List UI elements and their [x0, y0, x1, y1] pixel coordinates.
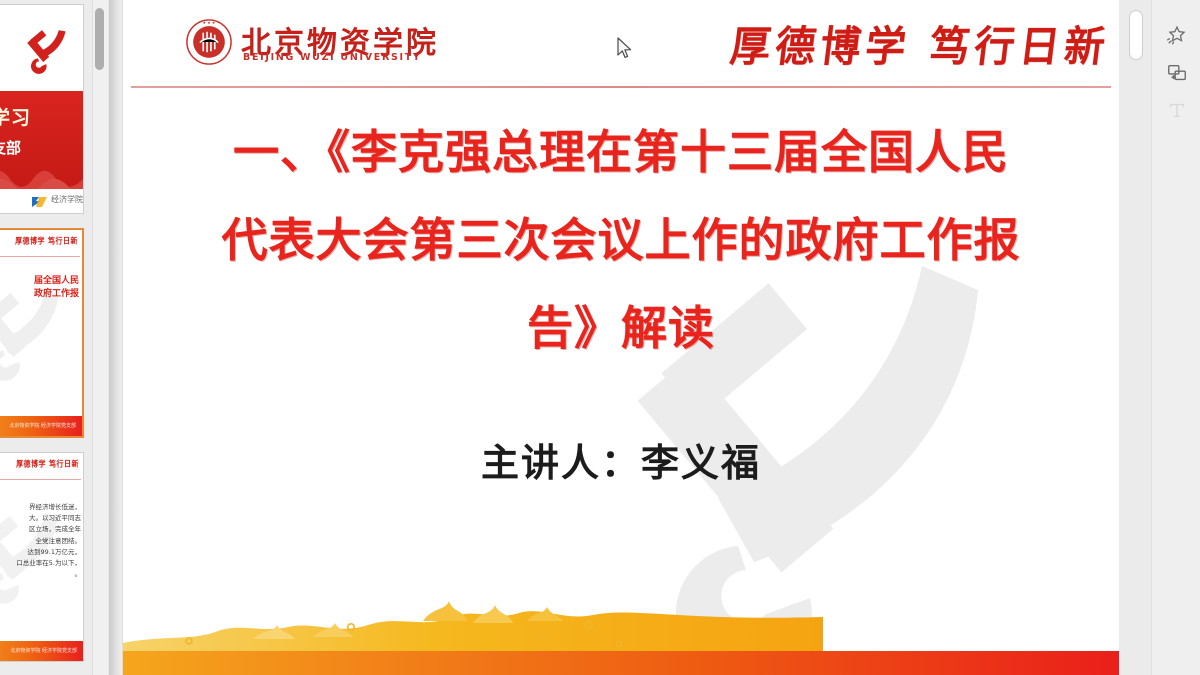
slide-header-divider [131, 86, 1111, 88]
thumbnail-3-footer-text: 北京物资学院 经济学院党支部 [10, 647, 77, 654]
thumbnail-2-motto: 厚德博学 笃行日新 [15, 235, 78, 247]
thumbnail-3-line-5: 达到99.1万亿元， [0, 547, 83, 558]
thumbnail-3-footer-bar: 北京物资学院 经济学院党支部 [0, 641, 83, 661]
thumbnail-1-wave-ornament [0, 149, 83, 189]
slide-canvas-scrollbar-track[interactable] [1119, 0, 1151, 675]
thumbnail-2-line-1: 届全国人民 [0, 275, 82, 288]
thumbnail-1-footer-name: 经济学院 [51, 194, 83, 205]
school-logo-icon [31, 195, 48, 208]
slide-thumbnail-3[interactable]: 厚德博学 笃行日新 界经济增长低迷， 大。以习近平同志 区立场，完成全年 全 [0, 452, 84, 662]
thumbnail-1-line1: 学习 [0, 103, 31, 130]
slide-title-line-3: 告》解读 [169, 284, 1073, 372]
thumbnail-2-body: 届全国人民 政府工作报 [0, 257, 82, 416]
slide-thumbnail-1[interactable]: 学习 支部 经济学院 [0, 4, 84, 214]
duplicate-slide-button[interactable] [1160, 56, 1194, 90]
thumbnail-3-line-3: 区立场，完成全年 [0, 524, 83, 535]
golden-wave-ornament [123, 591, 823, 653]
university-name-en: BEIJING WUZI UNIVERSITY [243, 52, 422, 63]
slide-title[interactable]: 一、《李克强总理在第十三届全国人民 代表大会第三次会议上作的政府工作报 告》解读 [169, 108, 1073, 372]
university-seal-icon: ★ ★ ★ [185, 18, 233, 66]
text-tool-icon [1166, 99, 1188, 121]
thumbnail-panel-scrollbar-thumb[interactable] [95, 8, 104, 70]
slide-bottom-bar [123, 651, 1119, 675]
slide-canvas-stage: ★ ★ ★ 北京物资学院 BEIJING WUZI UNIVERSITY 厚德博… [109, 0, 1119, 675]
thumbnail-2-line-2: 政府工作报 [0, 288, 82, 301]
thumbnail-3-body: 界经济增长低迷， 大。以习近平同志 区立场，完成全年 全党注意团结。 达到99.… [0, 480, 83, 641]
thumbnail-2-header: 厚德博学 笃行日新 [0, 230, 82, 256]
thumbnail-2-footer-bar: 北京物资学院 经济学院党支部 [0, 416, 82, 436]
slide-thumbnail-2[interactable]: 厚德博学 笃行日新 届全国人民 政府工作报 北京物资学 [0, 228, 84, 438]
thumbnail-1-emblem-area [0, 5, 83, 91]
thumbnail-1-footer: 经济学院 [0, 189, 83, 213]
slide-canvas-scrollbar-thumb[interactable] [1129, 10, 1143, 60]
thumbnail-2-footer-text: 北京物资学院 经济学院党支部 [9, 422, 76, 429]
slide-thumbnail-panel[interactable]: 学习 支部 经济学院 厚德博学 笃行日新 [0, 0, 92, 675]
thumbnail-3-line-6: 口总业率在5.为以下， [0, 558, 83, 569]
thumbnail-panel-scrollbar-track[interactable] [92, 0, 108, 675]
thumbnail-3-line-7: 。 [0, 569, 83, 580]
stage-left-shadow [109, 0, 123, 675]
slide-title-line-2: 代表大会第三次会议上作的政府工作报 [169, 196, 1073, 284]
presentation-editor-window: 学习 支部 经济学院 厚德博学 笃行日新 [0, 0, 1200, 675]
svg-text:★ ★ ★: ★ ★ ★ [203, 20, 216, 25]
university-motto: 厚德博学 笃行日新 [727, 13, 1113, 74]
slide-title-line-1: 一、《李克强总理在第十三届全国人民 [169, 108, 1073, 196]
thumbnail-3-line-1: 界经济增长低迷， [0, 502, 83, 513]
slide-presenter[interactable]: 主讲人：李义福 [169, 432, 1073, 487]
slide-header: ★ ★ ★ 北京物资学院 BEIJING WUZI UNIVERSITY 厚德博… [123, 0, 1119, 84]
current-slide[interactable]: ★ ★ ★ 北京物资学院 BEIJING WUZI UNIVERSITY 厚德博… [123, 0, 1119, 675]
thumbnail-1-red-panel: 学习 支部 [0, 91, 83, 189]
thumbnail-3-header: 厚德博学 笃行日新 [0, 453, 83, 479]
magic-star-button[interactable] [1160, 18, 1194, 52]
duplicate-slide-icon [1166, 62, 1188, 84]
magic-star-icon [1166, 24, 1188, 46]
thumbnail-3-line-4: 全党注意团结。 [0, 536, 83, 547]
right-tool-rail[interactable] [1151, 0, 1200, 675]
hammer-and-sickle-icon [25, 23, 77, 75]
thumbnail-3-motto: 厚德博学 笃行日新 [16, 458, 79, 470]
text-tool-button[interactable] [1160, 93, 1194, 127]
thumbnail-3-line-2: 大。以习近平同志 [0, 513, 83, 524]
